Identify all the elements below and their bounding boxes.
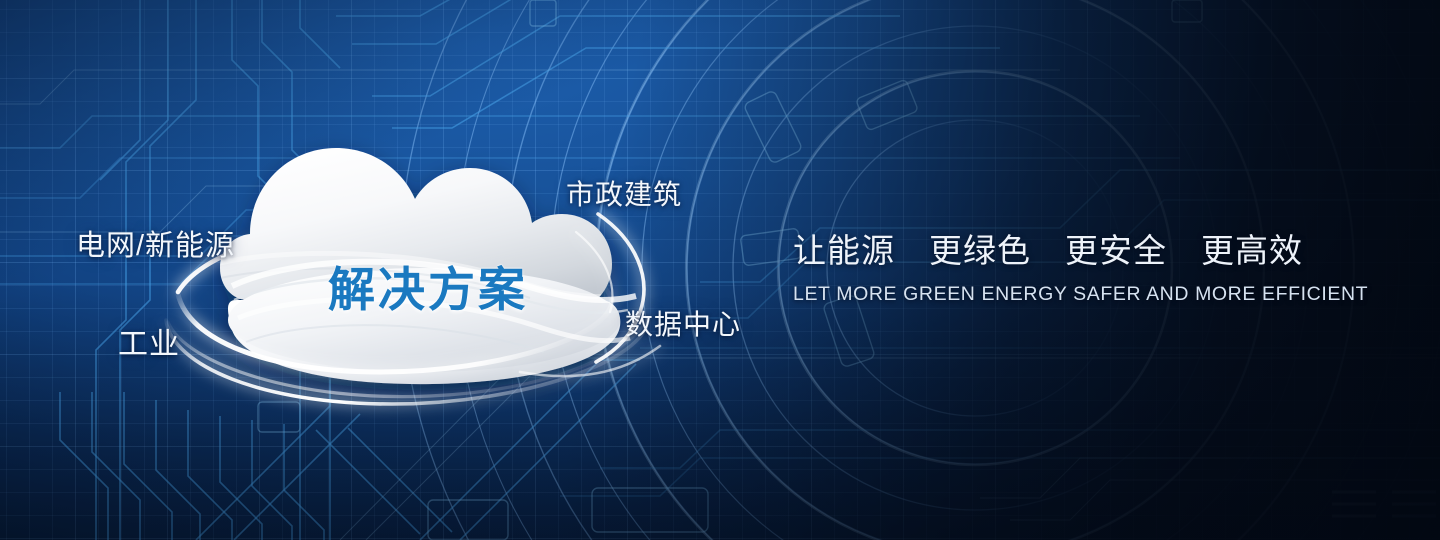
slogan-english: LET MORE GREEN ENERGY SAFER AND MORE EFF… [793,283,1368,306]
slogan-part-3: 更安全 [1065,232,1167,269]
label-grid-new-energy: 电网/新能源 [76,222,235,264]
label-data-center: 数据中心 [625,303,741,343]
label-municipal-building: 市政建筑 [566,173,682,213]
label-industry: 工业 [118,319,180,363]
slogan-block: 让能源更绿色更安全更高效 LET MORE GREEN ENERGY SAFER… [793,224,1368,306]
slogan-chinese: 让能源更绿色更安全更高效 [793,224,1368,272]
slogan-part-1: 让能源 [793,232,895,269]
slogan-part-2: 更绿色 [929,232,1031,269]
solution-banner: 解决方案 电网/新能源 工业 市政建筑 数据中心 让能源更绿色更安全更高效 LE… [0,0,1440,540]
cloud-title: 解决方案 [328,251,528,320]
slogan-part-4: 更高效 [1201,232,1303,269]
